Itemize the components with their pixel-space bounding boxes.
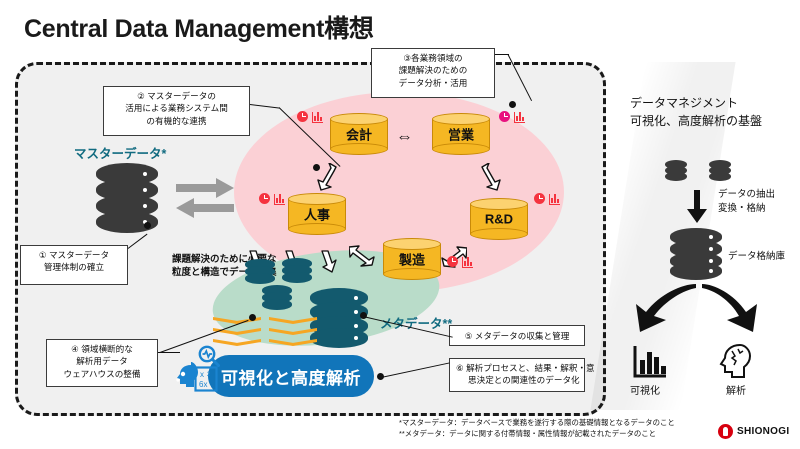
callout-6-anchor-dot [377,373,384,380]
clock-icon [499,111,510,122]
shionogi-logo: SHIONOGI [718,424,789,439]
callout-6[interactable]: ⑥ 解析プロセスと、結果・解釈・意 思決定との関連性のデータ化 [449,358,585,392]
domain-cylinder-sales: 営業 [432,113,490,155]
callout-3-anchor-dot [509,101,516,108]
analytics-icon-manufacturing [447,255,475,268]
callout-4[interactable]: ④ 領域横断的な 解析用データ ウェアハウスの整備 [46,339,158,387]
domain-cylinder-manufacturing: 製造 [383,238,441,280]
etl-caption: データの抽出 変換・格納 [718,188,775,216]
magnifier-pulse-icon [198,345,220,367]
svg-text:2: 2 [207,372,211,378]
arrow-to-analysis [700,282,766,338]
master-data-exchange-arrows [176,178,234,220]
etl-down-arrow [685,190,709,224]
master-data-label: マスターデータ* [74,143,166,162]
bar-chart-large-icon [632,344,668,380]
visualization-caption: 可視化 [630,385,660,400]
analytics-icon-rnd [534,192,562,205]
analysis-caption: 解析 [726,385,746,400]
shionogi-mark-icon [718,424,733,439]
callout-3[interactable]: ③各業務領域の 課題解決のための データ分析・活用 [371,48,495,98]
head-analysis-icon [716,342,754,380]
callout-5-anchor-dot [360,312,367,319]
visualization-analysis-pill[interactable]: 可視化と高度解析 [208,355,374,397]
domain-cylinder-rnd: R&D [470,198,528,240]
bar-chart-icon [312,110,325,123]
arrow-accounting-sales: ⇔ [396,128,413,145]
callout-1[interactable]: ① マスターデータ 管理体制の確立 [20,245,128,285]
small-teal-cylinder-c [262,285,292,313]
page-title: Central Data Management構想 [24,9,374,45]
clock-icon [447,256,458,267]
analytics-icon-accounting [297,110,325,123]
clock-icon [259,193,270,204]
formula-matrix-icon: x 2 6x [194,366,218,392]
analytics-icon-sales [499,110,527,123]
small-teal-cylinder-b [282,258,312,286]
callout-4-anchor-dot [249,314,256,321]
callout-5[interactable]: ⑤ メタデータの収集と管理 [449,325,585,346]
analytics-icon-hr [259,192,287,205]
callout-1-anchor-dot [144,222,151,229]
chevron-stack-right [269,317,317,351]
right-panel-title: データマネジメント 可視化、高度解析の基盤 [630,94,762,130]
diagram-canvas: Central Data Management構想 マスターデータ* 課題解決の… [0,0,800,449]
small-teal-cylinder-a [245,259,275,287]
arrow-sales-rnd [479,163,501,195]
domain-cylinder-accounting: 会計 [330,113,388,155]
warehouse-cylinder [670,228,722,282]
arrow-to-visualization [630,282,700,338]
bar-chart-icon [514,110,527,123]
footnotes: *マスターデータ：データベースで業務を遂行する際の基礎情報となるデータのこと *… [399,417,675,440]
bar-chart-icon [462,255,475,268]
chevron-stack-left [213,317,261,351]
source-cylinder-left [665,160,687,184]
clock-icon [534,193,545,204]
shionogi-wordmark: SHIONOGI [737,426,789,437]
metadata-cylinder [310,288,368,350]
warehouse-caption: データ格納庫 [728,250,785,264]
clock-icon [297,111,308,122]
callout-2[interactable]: ② マスターデータの 活用による業務システム間 の有機的な連携 [103,86,250,136]
svg-text:x: x [200,370,204,379]
arrow-hr-accounting [317,163,339,195]
bar-chart-icon [274,192,287,205]
bar-chart-icon [549,192,562,205]
source-cylinder-right [709,160,731,184]
domain-cylinder-hr: 人事 [288,193,346,235]
svg-text:6x: 6x [199,380,207,389]
